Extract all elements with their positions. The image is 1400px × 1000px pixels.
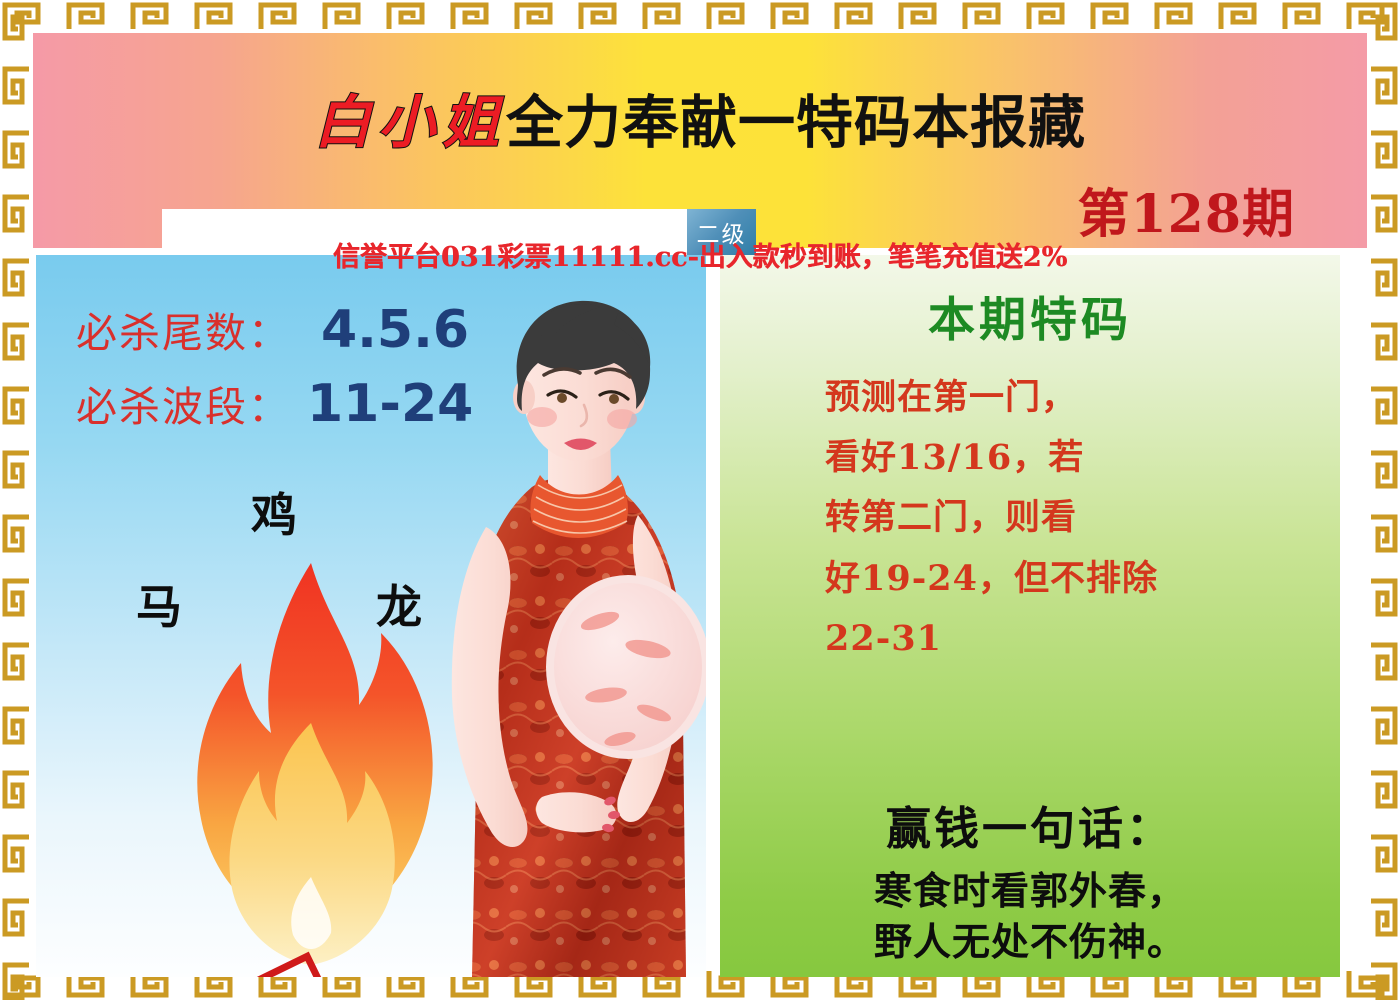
prediction-line: 看好13/16，若: [825, 428, 1255, 488]
border-meander-top: [0, 0, 1400, 32]
prediction-text: 预测在第一门， 看好13/16，若 转第二门，则看 好19-24，但不排除 22…: [825, 368, 1255, 669]
kill-tail-row: 必杀尾数： 4.5.6: [76, 299, 469, 360]
promo-banner-text: 信誉平台031彩票11111.cc-出入款秒到账，笔笔充值送2%: [0, 244, 1400, 271]
win-poem: 寒食时看郭外春， 野人无处不伤神。: [720, 866, 1340, 967]
border-meander-right: [1368, 0, 1400, 1000]
qipao-lady-illustration: [414, 277, 706, 977]
issue-number: 第128期: [1077, 189, 1295, 241]
title-red-part: 白小姐: [314, 90, 506, 156]
kill-tail-label: 必杀尾数：: [76, 299, 291, 359]
special-code-heading: 本期特码: [720, 281, 1340, 350]
border-meander-left: [0, 0, 32, 1000]
prediction-line: 22-31: [825, 609, 1255, 669]
zodiac-top: 鸡: [251, 479, 297, 545]
left-blue-panel: 必杀尾数： 4.5.6 必杀波段： 11-24 鸡 马 龙: [36, 255, 706, 977]
prediction-line: 预测在第一门，: [825, 368, 1255, 428]
poem-line: 野人无处不伤神。: [720, 917, 1340, 968]
poem-line: 寒食时看郭外春，: [720, 866, 1340, 917]
win-phrase-heading: 赢钱一句话：: [720, 792, 1340, 857]
header-band: 白小姐全力奉献一特码本报藏 二级 第128期: [33, 33, 1367, 248]
right-green-panel: 本期特码 预测在第一门， 看好13/16，若 转第二门，则看 好19-24，但不…: [720, 255, 1340, 977]
title-black-part: 全力奉献一特码本报藏: [506, 90, 1086, 156]
kill-band-label: 必杀波段：: [76, 373, 291, 433]
prediction-line: 好19-24，但不排除: [825, 549, 1255, 609]
prediction-line: 转第二门，则看: [825, 488, 1255, 548]
page-title: 白小姐全力奉献一特码本报藏: [33, 95, 1367, 152]
lottery-poster: 白小姐全力奉献一特码本报藏 二级 第128期 信誉平台031彩票11111.cc…: [0, 0, 1400, 1000]
